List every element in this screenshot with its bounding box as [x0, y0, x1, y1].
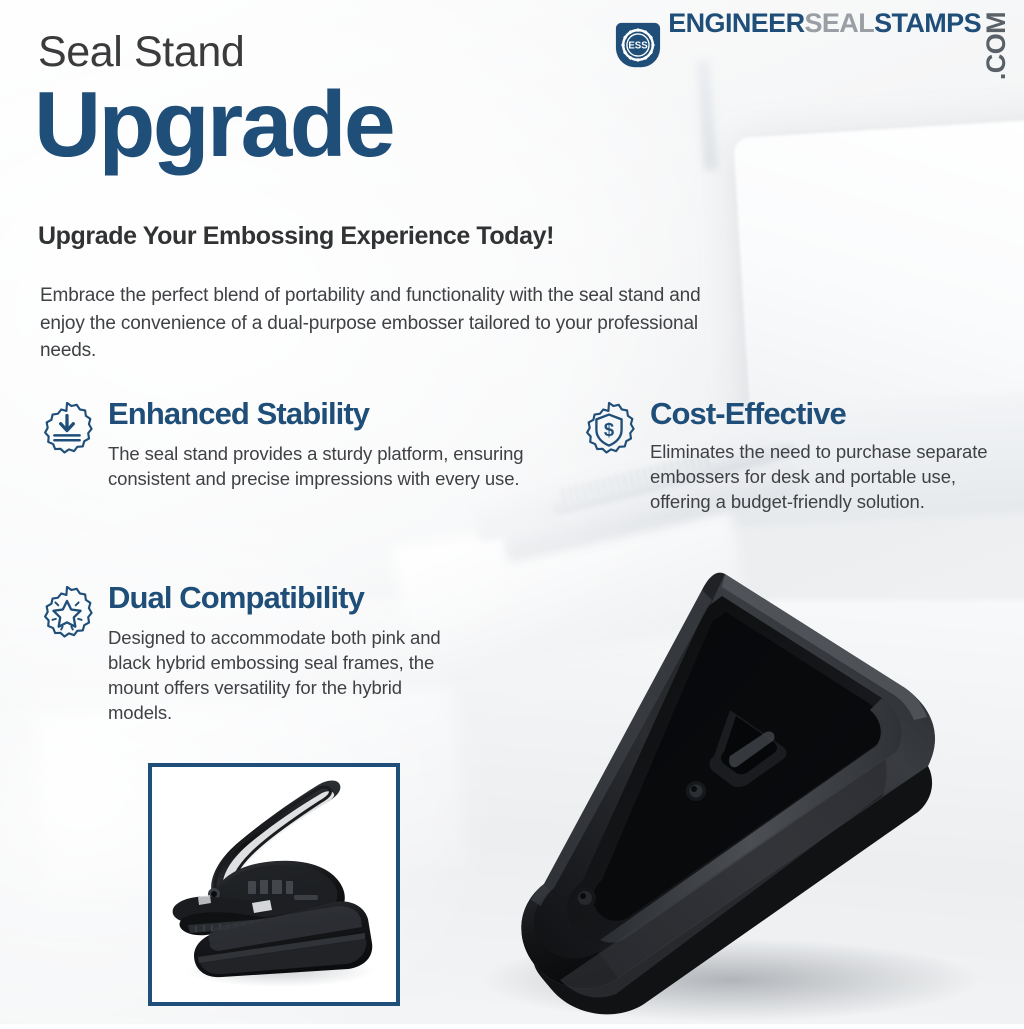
feature-enhanced-stability: Enhanced Stability The seal stand provid…	[36, 398, 576, 491]
feature-text: The seal stand provides a sturdy platfor…	[108, 441, 562, 491]
feature-title: Enhanced Stability	[108, 398, 562, 431]
inset-product-photo	[148, 763, 400, 1006]
ess-gear-badge-icon: ESS	[615, 22, 661, 68]
logo-word-seal: SEAL	[804, 10, 874, 37]
page-kicker: Seal Stand	[38, 28, 244, 77]
star-sparkle-badge-icon	[36, 582, 102, 725]
logo-word-stamps: STAMPS	[874, 10, 981, 37]
svg-text:$: $	[604, 419, 614, 440]
hero-product-image	[430, 560, 1024, 1024]
logo-word-engineer: ENGINEER	[668, 10, 804, 37]
brand-logo[interactable]: ESS ENGINEER SEAL STAMPS .COM	[615, 10, 1010, 80]
press-down-badge-icon	[36, 398, 102, 491]
page-title: Upgrade	[34, 78, 393, 171]
page-subhead: Upgrade Your Embossing Experience Today!	[38, 222, 554, 251]
logo-mark-text: ESS	[629, 41, 649, 52]
page-intro: Embrace the perfect blend of portability…	[40, 282, 712, 365]
feature-title: Cost-Effective	[650, 398, 994, 431]
feature-cost-effective: $ Cost-Effective Eliminates the need to …	[578, 398, 998, 514]
feature-text: Designed to accommodate both pink and bl…	[108, 625, 458, 726]
feature-text: Eliminates the need to purchase separate…	[650, 439, 990, 514]
shield-dollar-badge-icon: $	[578, 398, 644, 514]
logo-tld: .COM	[983, 12, 1010, 80]
logo-wordmark: ENGINEER SEAL STAMPS .COM	[668, 10, 1010, 80]
